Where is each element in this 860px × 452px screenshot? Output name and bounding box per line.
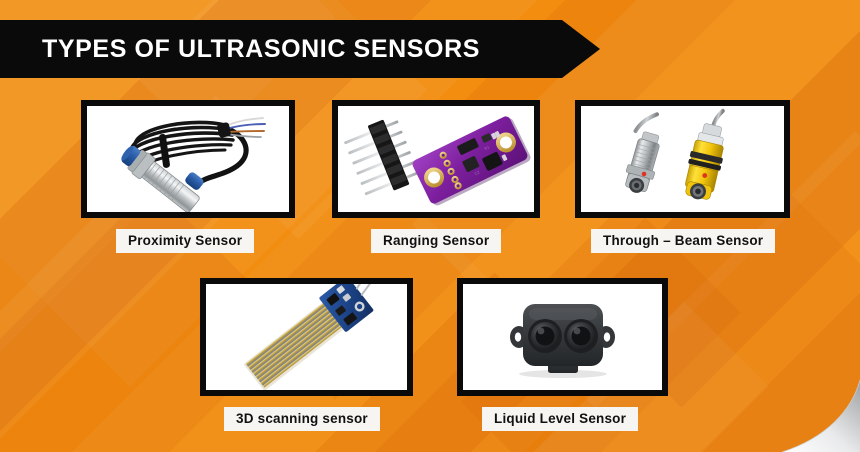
sensor-label-proximity: Proximity Sensor xyxy=(116,229,254,253)
sensor-label-liquid-level: Liquid Level Sensor xyxy=(482,407,638,431)
sensor-card-ranging[interactable]: R1 C2 xyxy=(332,100,540,218)
sensor-card-proximity[interactable] xyxy=(81,100,295,218)
poster-canvas: TYPES OF ULTRASONIC SENSORS xyxy=(0,0,860,452)
sensor-label-ranging: Ranging Sensor xyxy=(371,229,501,253)
sensor-card-3d-scanning[interactable] xyxy=(200,278,413,396)
title-banner: TYPES OF ULTRASONIC SENSORS xyxy=(0,20,600,78)
ranging-sensor-photo: R1 C2 xyxy=(338,106,534,212)
sensor-label-3d-scanning: 3D scanning sensor xyxy=(224,407,380,431)
sensor-card-image-frame: R1 C2 xyxy=(338,106,534,212)
sensor-card-image-frame xyxy=(206,284,407,390)
sensor-label-through-beam: Through – Beam Sensor xyxy=(591,229,775,253)
page-curl-corner xyxy=(782,380,860,452)
proximity-sensor-photo xyxy=(87,106,289,212)
3d-scanning-sensor-photo xyxy=(206,284,407,390)
through-beam-sensor-photo xyxy=(581,106,784,212)
sensor-card-image-frame xyxy=(463,284,662,390)
sensor-card-liquid-level[interactable] xyxy=(457,278,668,396)
sensor-card-image-frame xyxy=(581,106,784,212)
liquid-level-sensor-photo xyxy=(463,284,662,390)
sensor-card-through-beam[interactable] xyxy=(575,100,790,218)
page-title: TYPES OF ULTRASONIC SENSORS xyxy=(0,35,480,64)
sensor-card-image-frame xyxy=(87,106,289,212)
